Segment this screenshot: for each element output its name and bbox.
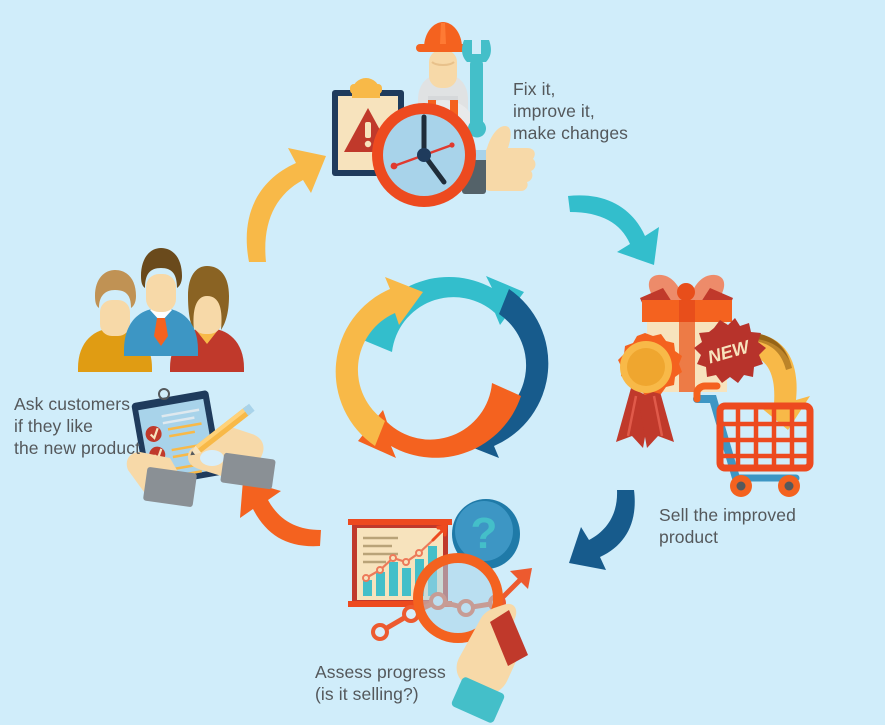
connector-arrow-ask-to-fix — [247, 148, 326, 262]
caption-ask-customers: Ask customers if they like the new produ… — [14, 393, 140, 459]
node-sell: NEW — [616, 275, 810, 497]
connector-arrow-assess-to-ask — [240, 480, 321, 546]
customers-group-icon — [78, 248, 244, 372]
chart-bar — [402, 568, 411, 596]
cycle-segment-ask — [336, 277, 423, 446]
node-fix-it — [332, 22, 535, 207]
caption-sell: Sell the improved product — [659, 504, 796, 548]
infographic-canvas: NEW — [0, 0, 885, 725]
diagram-graphics: NEW — [0, 0, 885, 725]
caption-fix-it: Fix it, improve it, make changes — [513, 78, 628, 144]
connector-arrow-sell-to-assess — [569, 490, 635, 570]
clock-icon — [372, 103, 476, 207]
chart-bar — [376, 572, 385, 596]
chart-bar — [363, 580, 372, 596]
shopping-cart-icon — [697, 386, 810, 497]
node-ask-customers — [78, 248, 276, 507]
chart-bar — [389, 562, 398, 596]
connector-arrow-fix-to-sell — [568, 195, 659, 265]
caption-assess: Assess progress (is it selling?) — [315, 661, 446, 705]
central-cycle-diagram — [336, 276, 549, 458]
question-mark-label: ? — [471, 509, 498, 558]
